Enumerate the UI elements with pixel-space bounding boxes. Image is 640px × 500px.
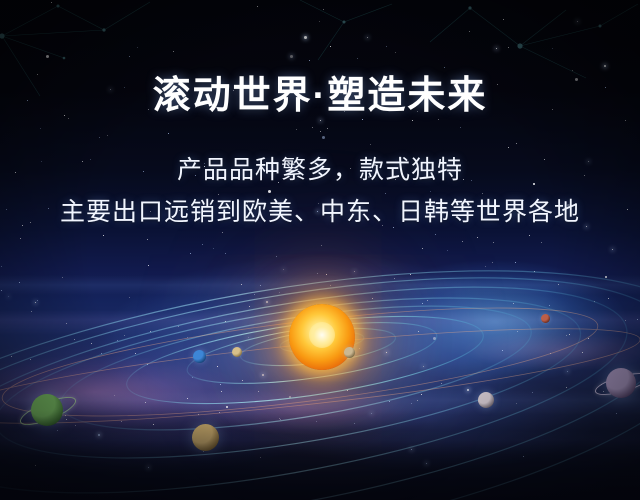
star xyxy=(202,244,203,245)
star xyxy=(147,239,148,240)
solar-system xyxy=(0,250,640,500)
star xyxy=(529,235,530,236)
page-title: 滚动世界·塑造未来 xyxy=(0,76,640,118)
space-banner: 滚动世界·塑造未来 产品品种繁多，款式独特 主要出口远销到欧美、中东、日韩等世界… xyxy=(0,0,640,500)
star xyxy=(222,232,223,233)
star xyxy=(493,242,494,243)
star xyxy=(213,248,214,249)
star xyxy=(20,238,21,239)
star xyxy=(477,237,478,238)
star xyxy=(103,235,104,236)
subtitle-line-1: 产品品种繁多，款式独特 xyxy=(0,150,640,186)
star xyxy=(321,245,322,246)
star xyxy=(541,242,542,243)
star xyxy=(462,241,463,242)
subtitle-line-2: 主要出口远销到欧美、中东、日韩等世界各地 xyxy=(0,192,640,228)
orbit-rings xyxy=(0,250,640,500)
star xyxy=(435,234,436,235)
sun-core-glow xyxy=(309,322,335,348)
